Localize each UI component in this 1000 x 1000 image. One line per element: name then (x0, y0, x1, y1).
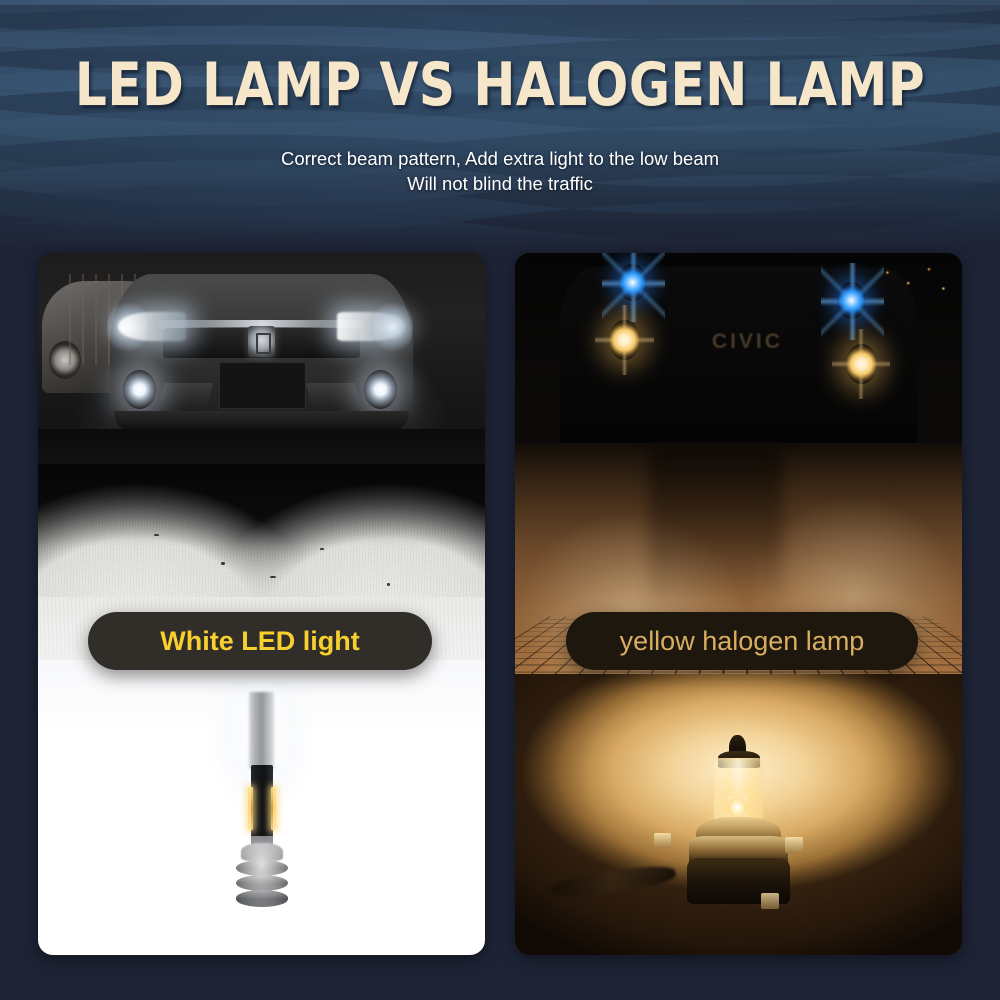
led-chip-left (248, 787, 253, 831)
page-subtitle: Correct beam pattern, Add extra light to… (0, 146, 1000, 196)
wave-pattern-decoration (0, 0, 1000, 250)
pavement-shadow-band (649, 443, 783, 611)
halogen-photo: CIVIC (515, 253, 962, 955)
led-foglight-left (123, 370, 156, 409)
led-bulb-stem (249, 692, 274, 769)
comparison-infographic: LED LAMP VS HALOGEN LAMP Correct beam pa… (0, 0, 1000, 1000)
halogen-vignette (515, 674, 962, 955)
halogen-comparison-panel[interactable]: CIVIC (515, 253, 962, 955)
car-badge-text: CIVIC (698, 330, 796, 365)
led-label-pill[interactable]: White LED light (88, 612, 432, 670)
subtitle-line-1: Correct beam pattern, Add extra light to… (281, 148, 719, 169)
led-headlight-left (118, 312, 185, 341)
led-headlight-right (337, 312, 404, 341)
header-banner: LED LAMP VS HALOGEN LAMP Correct beam pa… (0, 0, 1000, 250)
pavement-speck (154, 534, 159, 536)
led-comparison-panel[interactable] (38, 253, 485, 955)
honda-emblem-icon (248, 326, 275, 357)
distant-city-lights (873, 260, 953, 302)
led-bulb-halo (212, 836, 310, 934)
blue-marker-light-left (618, 264, 647, 301)
led-foglight-right (364, 370, 397, 409)
led-photo (38, 253, 485, 955)
pavement-speck (221, 562, 225, 565)
halogen-label-text: yellow halogen lamp (620, 626, 865, 657)
halogen-headlight-right (846, 344, 877, 383)
halogen-headlight-left (609, 320, 640, 359)
page-title: LED LAMP VS HALOGEN LAMP (35, 55, 965, 115)
halogen-label-pill[interactable]: yellow halogen lamp (566, 612, 918, 670)
pavement-speck (387, 583, 390, 586)
license-plate-recess (219, 362, 306, 409)
subtitle-line-2: Will not blind the traffic (0, 171, 1000, 196)
led-chip-right (271, 787, 276, 831)
led-bulb-body (251, 765, 273, 845)
pavement-speck (320, 548, 324, 550)
led-label-text: White LED light (160, 626, 359, 657)
pavement-speck (270, 576, 276, 578)
blue-marker-light-right (837, 282, 866, 319)
